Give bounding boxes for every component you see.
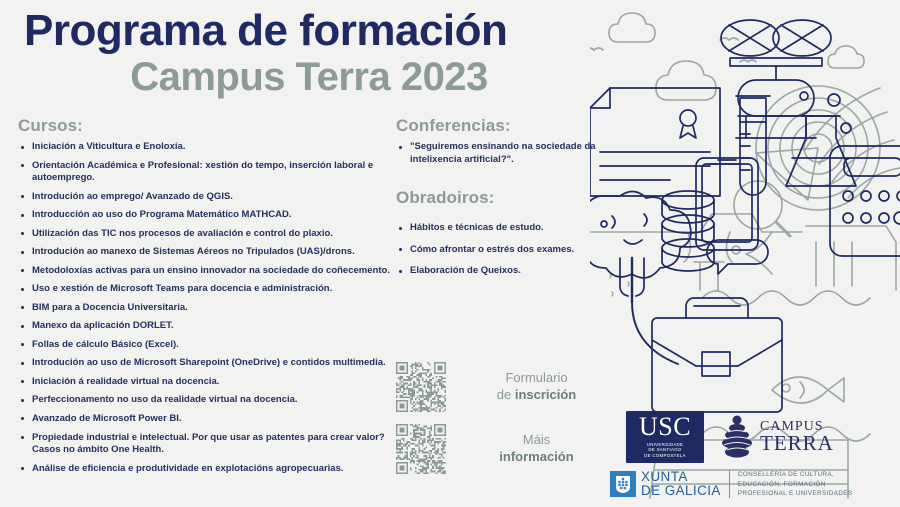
qr-form-line2-bold: inscrición bbox=[515, 387, 576, 402]
list-item: Elaboración de Queixos. bbox=[396, 265, 621, 278]
xunta-text: XUNTA DE GALICIA bbox=[641, 470, 721, 499]
campus-terra-text: CAMPUS TERRA bbox=[760, 420, 834, 453]
smartphone-icon bbox=[696, 158, 758, 250]
list-item: Perfeccionamento no uso da realidade vir… bbox=[18, 394, 394, 407]
page-title-block: Programa de formación Campus Terra 2023 bbox=[24, 8, 624, 98]
radar-arcs-icon bbox=[756, 86, 880, 210]
usc-logo: USC UNIVERSIDADE DE SANTIAGO DE COMPOSTE… bbox=[626, 411, 704, 463]
conselleria-line1: CONSELLERÍA DE CULTURA, bbox=[738, 471, 834, 478]
page-subtitle: Campus Terra 2023 bbox=[24, 56, 624, 98]
cursos-list: Iniciación a Viticultura e Enoloxía.Orie… bbox=[18, 141, 394, 475]
radar-arcs-icon bbox=[756, 148, 818, 200]
usc-sub-line1: UNIVERSIDADE bbox=[647, 442, 684, 447]
conselleria-line2: EDUCACIÓN, FORMACIÓN bbox=[738, 481, 826, 488]
list-item: Análise de eficiencia e produtividade en… bbox=[18, 463, 394, 476]
list-item: Orientación Académica e Profesional: xes… bbox=[18, 160, 394, 185]
list-item: Propiedade industrial e intelectual. Por… bbox=[18, 432, 394, 457]
qr-form-line1: Formulario bbox=[505, 370, 567, 385]
list-item: Avanzado de Microsoft Power BI. bbox=[18, 413, 394, 426]
list-item: BIM para a Docencia Universitaria. bbox=[18, 302, 394, 315]
xunta-logo: XUNTA DE GALICIA bbox=[610, 470, 721, 499]
bird-icon bbox=[740, 60, 756, 62]
page-title: Programa de formación bbox=[24, 8, 624, 54]
calculator-icon bbox=[830, 146, 900, 256]
list-item: Utilización das TIC nos procesos de aval… bbox=[18, 228, 394, 241]
qr-row-info[interactable]: Máis información bbox=[396, 424, 621, 474]
list-item: Iniciación á realidade virtual na docenc… bbox=[18, 376, 394, 389]
list-item: Metodoloxías activas para un ensino inno… bbox=[18, 265, 394, 278]
list-item: "Seguiremos ensinando na sociedade da in… bbox=[396, 141, 621, 166]
usc-letters: USC bbox=[639, 415, 691, 440]
qr-info-line1: Máis bbox=[523, 432, 550, 447]
qr-info-label: Máis información bbox=[446, 432, 621, 466]
test-tube-icon bbox=[736, 96, 770, 195]
speech-bubble-icon bbox=[707, 240, 768, 274]
radar-arcs-icon bbox=[805, 88, 900, 198]
conselleria-line3: PROFESIONAL E UNIVERSIDADES bbox=[738, 490, 853, 497]
conferencias-list: "Seguiremos ensinando na sociedade da in… bbox=[396, 141, 621, 166]
cursos-heading: Cursos: bbox=[18, 116, 394, 136]
flask-icon bbox=[786, 92, 856, 186]
cloud-icon bbox=[828, 46, 864, 68]
conselleria-text: CONSELLERÍA DE CULTURA, EDUCACIÓN, FORMA… bbox=[738, 470, 853, 499]
list-item: Follas de cálculo Básico (Excel). bbox=[18, 339, 394, 352]
qr-block: Formulario de inscrición Máis informació… bbox=[396, 362, 621, 474]
fish-icon bbox=[772, 377, 844, 403]
logo-bar: USC UNIVERSIDADE DE SANTIAGO DE COMPOSTE… bbox=[610, 411, 890, 499]
list-item: Hábitos e técnicas de estudo. bbox=[396, 222, 621, 235]
list-item: Introdución ao manexo de Sistemas Aéreos… bbox=[18, 246, 394, 259]
cursos-column: Cursos: Iniciación a Viticultura e Enolo… bbox=[18, 116, 394, 481]
magnifier-icon bbox=[734, 181, 790, 236]
list-item: Manexo da aplicación DORLET. bbox=[18, 320, 394, 333]
data-stack-icon bbox=[662, 191, 714, 271]
briefcase-icon bbox=[652, 298, 782, 412]
campus-terra-logo: CAMPUS TERRA bbox=[720, 414, 834, 460]
xunta-shield-icon bbox=[610, 471, 636, 497]
list-item: Introducción ao uso do Programa Matemáti… bbox=[18, 209, 394, 222]
obradoiros-list: Hábitos e técnicas de estudo.Cómo afront… bbox=[396, 222, 621, 278]
qr-form-line2-prefix: de bbox=[497, 387, 515, 402]
logo-row-top: USC UNIVERSIDADE DE SANTIAGO DE COMPOSTE… bbox=[610, 411, 890, 463]
qr-code-icon[interactable] bbox=[396, 424, 446, 474]
xunta-line2: DE GALICIA bbox=[641, 483, 721, 498]
qr-info-line2-bold: información bbox=[499, 449, 573, 464]
cow-icon bbox=[590, 214, 896, 290]
xunta-line1: XUNTA bbox=[641, 469, 688, 484]
list-item: Uso e xestión de Microsoft Teams para do… bbox=[18, 283, 394, 296]
logo-divider bbox=[729, 470, 730, 498]
qr-form-label: Formulario de inscrición bbox=[446, 370, 621, 404]
qr-row-form[interactable]: Formulario de inscrición bbox=[396, 362, 621, 412]
bird-icon bbox=[720, 38, 738, 40]
campus-terra-tree-icon bbox=[720, 414, 754, 460]
usc-sub-line2: DE SANTIAGO bbox=[648, 447, 681, 452]
conferencias-heading: Conferencias: bbox=[396, 116, 621, 136]
logo-row-bottom: XUNTA DE GALICIA CONSELLERÍA DE CULTURA,… bbox=[610, 470, 890, 499]
usc-subtext: UNIVERSIDADE DE SANTIAGO DE COMPOSTELA bbox=[644, 442, 686, 459]
qr-code-icon[interactable] bbox=[396, 362, 446, 412]
campus-terra-line2: TERRA bbox=[760, 434, 834, 454]
list-item: Introdución ao emprego/ Avanzado de QGIS… bbox=[18, 191, 394, 204]
drone-icon bbox=[721, 20, 831, 138]
list-item: Introdución ao uso de Microsoft Sharepoi… bbox=[18, 357, 394, 370]
conferencias-obradoiros-column: Conferencias: "Seguiremos ensinando na s… bbox=[396, 116, 621, 287]
list-item: Iniciación a Viticultura e Enoloxía. bbox=[18, 141, 394, 154]
obradoiros-heading: Obradoiros: bbox=[396, 188, 621, 208]
list-item: Cómo afrontar o estrés dos exames. bbox=[396, 244, 621, 257]
cloud-icon bbox=[656, 61, 716, 100]
usc-sub-line3: DE COMPOSTELA bbox=[644, 453, 686, 458]
